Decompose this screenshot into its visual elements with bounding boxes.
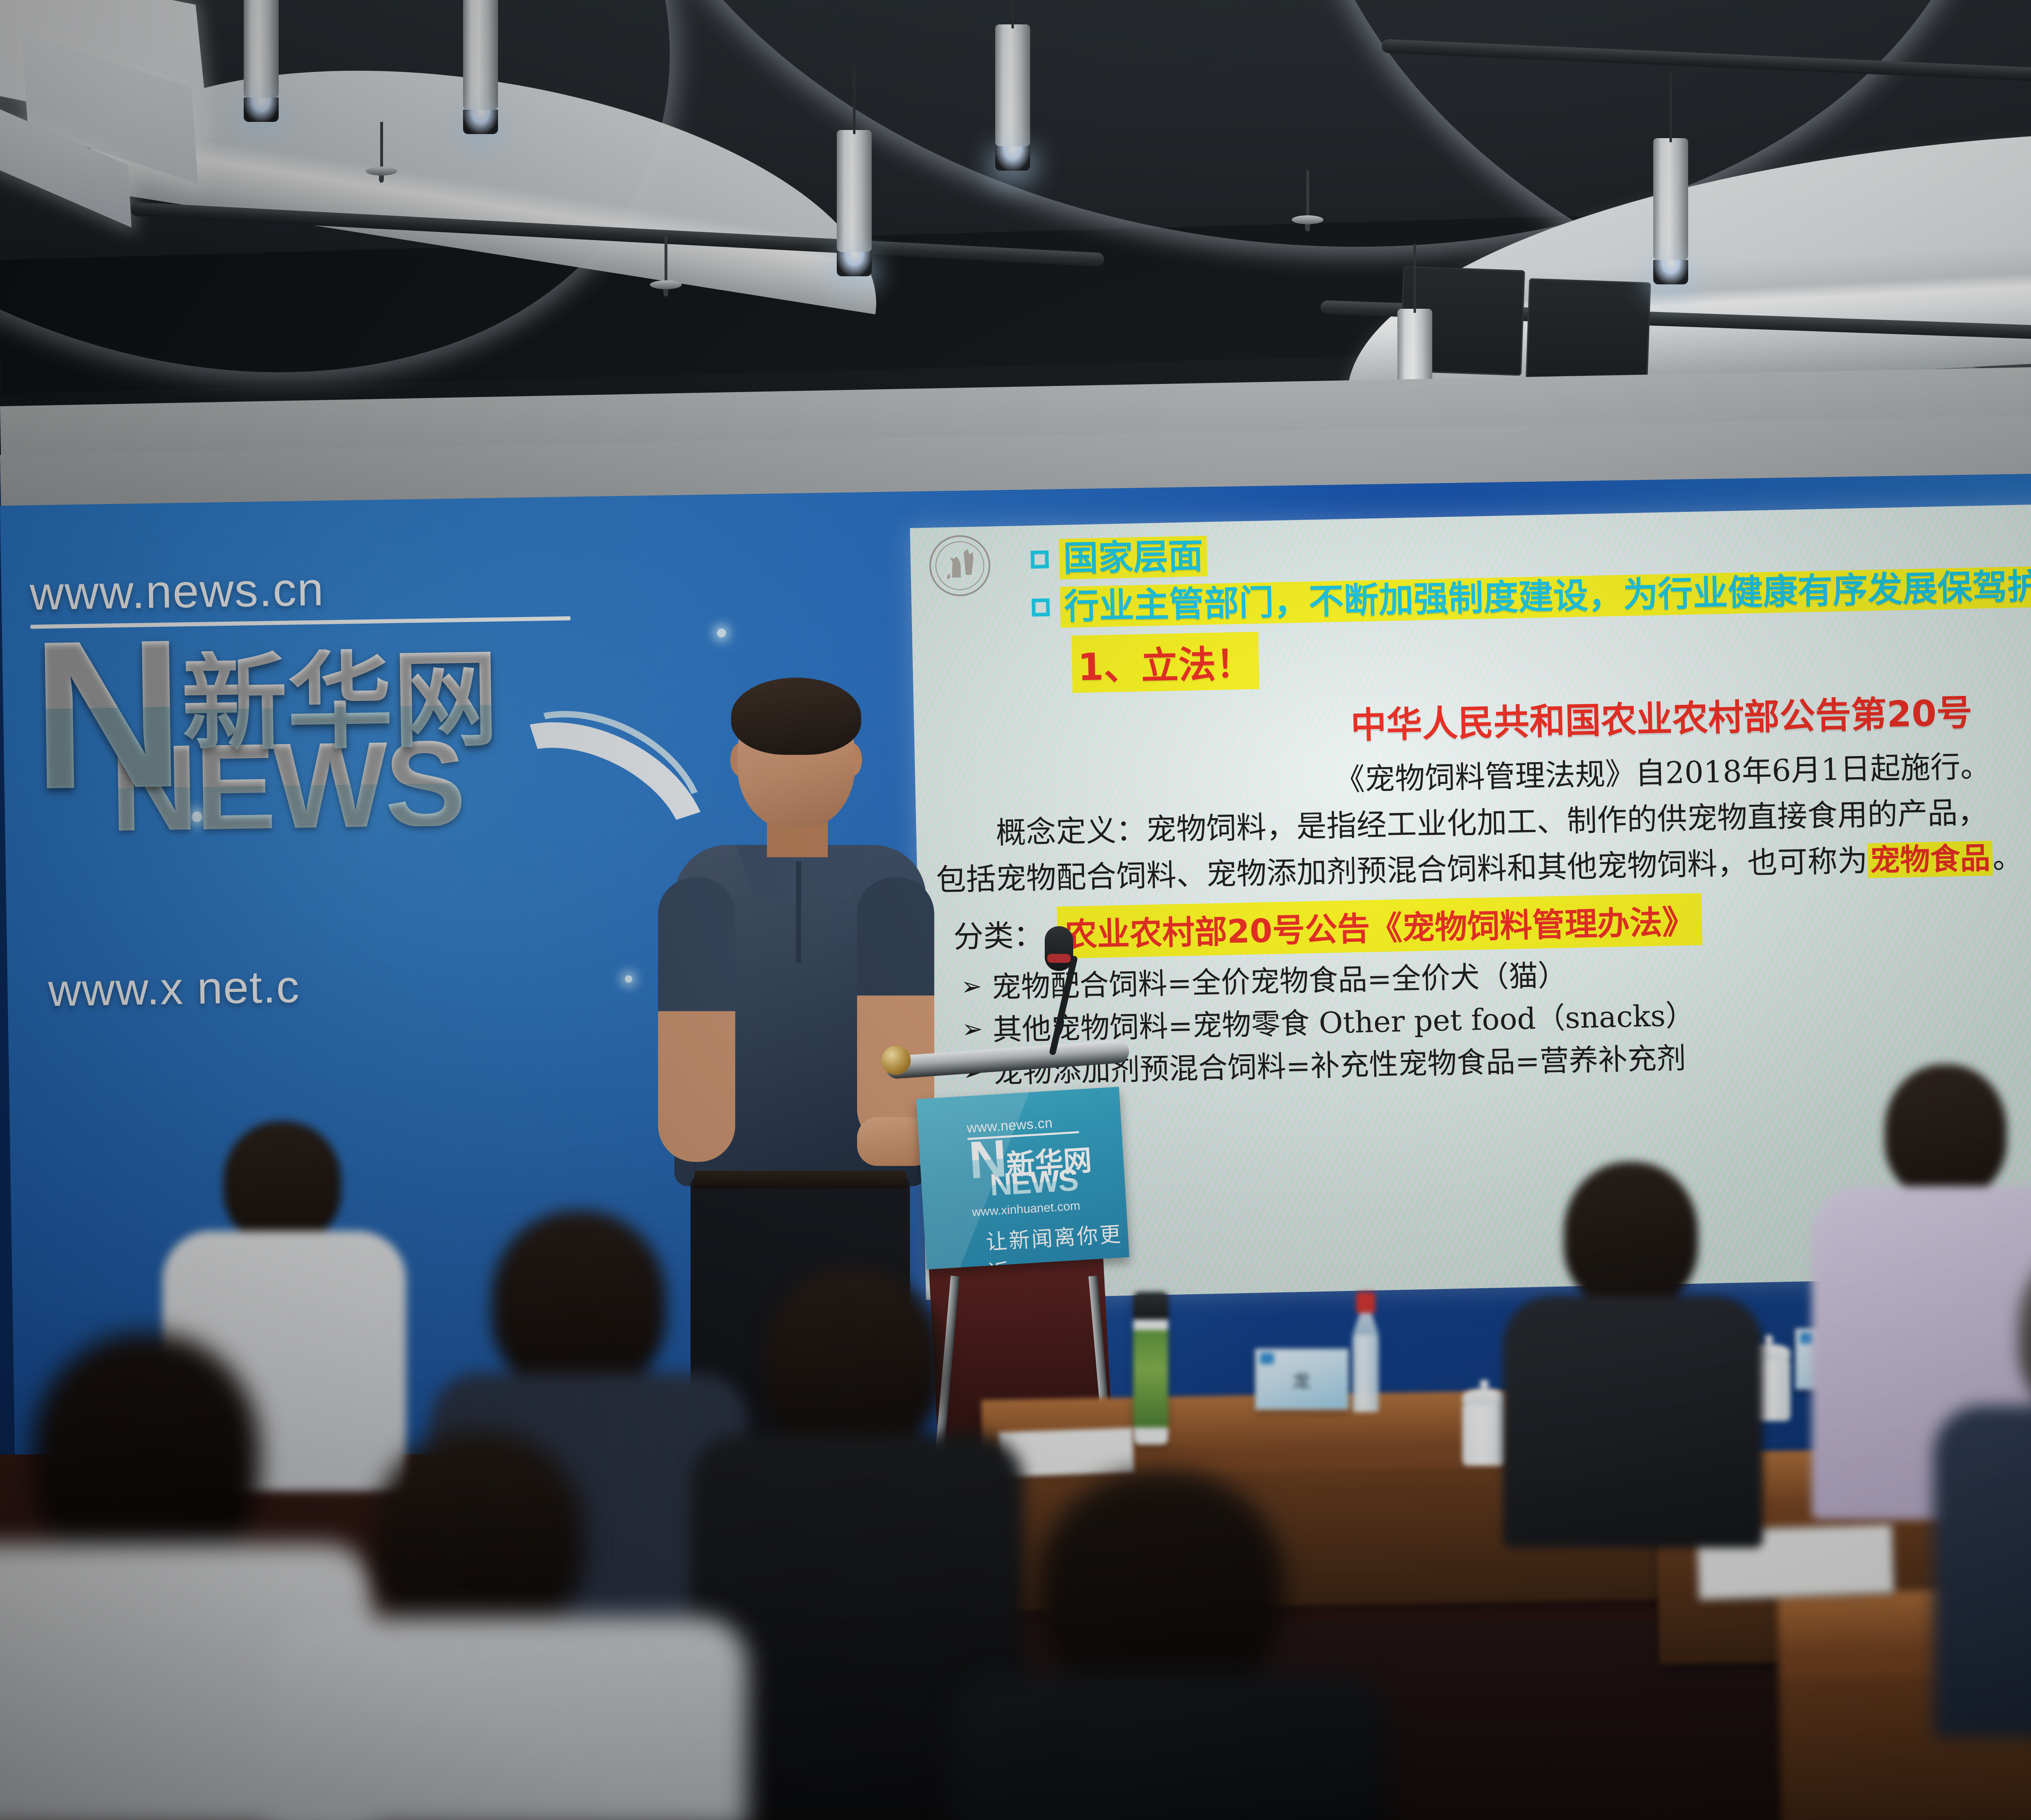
square-bullet-icon-2 — [1032, 598, 1050, 617]
slide-definition-line-2-pre: 包括宠物配合饲料、宠物添加剂预混合饲料和其他宠物饲料，也可称为 — [935, 843, 1868, 898]
cylinder-spotlight-3 — [995, 24, 1030, 171]
backdrop-logo-rule — [30, 616, 571, 629]
lectern-logo: www.news.cn N 新华网 NEWS www.xinhuanet.com — [966, 1113, 1095, 1220]
audience-person-ponytail — [1503, 1162, 1763, 1527]
fire-sprinkler-4 — [366, 122, 397, 183]
backdrop-letter-n: N — [30, 633, 178, 796]
presenter-arm-left — [658, 877, 735, 1162]
backdrop-url-bottom: www.x net.c — [48, 960, 300, 1017]
backdrop-sparkle-1 — [717, 628, 726, 637]
xinhua-backdrop-logo: www.news.cn N 新华网 NEWS www.x net.c — [29, 557, 643, 832]
arrow-bullet-icon-2: ➢ — [961, 1014, 983, 1043]
arrow-bullet-icon-1: ➢ — [961, 971, 982, 1001]
slide-list-item-2-text: 其他宠物饲料=宠物零食 Other pet food（snacks） — [992, 999, 1695, 1046]
lidded-teacup-1 — [1462, 1385, 1506, 1466]
square-bullet-icon-1 — [1031, 550, 1049, 569]
audience-foreground-center-left — [284, 1430, 731, 1820]
conference-photo-scene: www.news.cn N 新华网 NEWS www.x net.c — [0, 0, 2031, 1820]
name-placard-1-text: 龙 — [1293, 1366, 1312, 1392]
backdrop-wordmark: NEWS — [109, 737, 643, 831]
backdrop-sparkle-2 — [192, 811, 202, 822]
line-array-speaker-2 — [1526, 278, 1651, 388]
cylinder-spotlight-4 — [837, 130, 872, 276]
audience-person-grey-hair — [1934, 1235, 2031, 1722]
backdrop-sparkle-5 — [625, 975, 632, 983]
slide-definition-line-2-post: 。 — [1992, 840, 2023, 876]
cylinder-spotlight-5 — [1653, 138, 1688, 284]
audience-foreground-center — [967, 1471, 1373, 1820]
slide-category-badge: 农业农村部20号公告《宠物饲料管理办法》 — [1057, 893, 1703, 958]
slide-list-item-1-text: 宠物配合饲料=全价宠物食品=全价犬（猫） — [992, 959, 1568, 1003]
fire-sprinkler-1 — [650, 236, 682, 297]
slide-section-number: 1、立法！ — [1072, 632, 1260, 693]
lectern-sign: www.news.cn N 新华网 NEWS www.xinhuanet.com… — [916, 1087, 1130, 1270]
cylinder-spotlight-1 — [244, 0, 279, 122]
microphone-red-ring — [1047, 954, 1071, 963]
water-bottle-1 — [1353, 1292, 1379, 1412]
thermos-flask-1 — [1133, 1292, 1168, 1445]
backdrop-brand-cn: 新华网 — [181, 647, 499, 757]
backdrop-url-top: www.news.cn — [29, 557, 639, 621]
presenter-belt — [695, 1171, 906, 1189]
presenter-placket — [796, 861, 801, 963]
slide-category-label: 分类： — [953, 911, 1044, 956]
lectern-url-bottom: www.xinhuanet.com — [972, 1198, 1095, 1219]
pet-cat-dog-seal-icon — [929, 535, 991, 597]
slide-bullet-text-1: 国家层面 — [1059, 536, 1208, 580]
cylinder-spotlight-2 — [463, 0, 498, 134]
presenter-hair — [731, 678, 861, 755]
name-placard-1: 龙 — [1255, 1349, 1349, 1410]
fire-sprinkler-2 — [1292, 171, 1323, 232]
ceiling — [0, 0, 2031, 463]
slide-definition-highlight: 宠物食品 — [1867, 841, 1993, 878]
microphone-head-icon — [1045, 926, 1073, 971]
